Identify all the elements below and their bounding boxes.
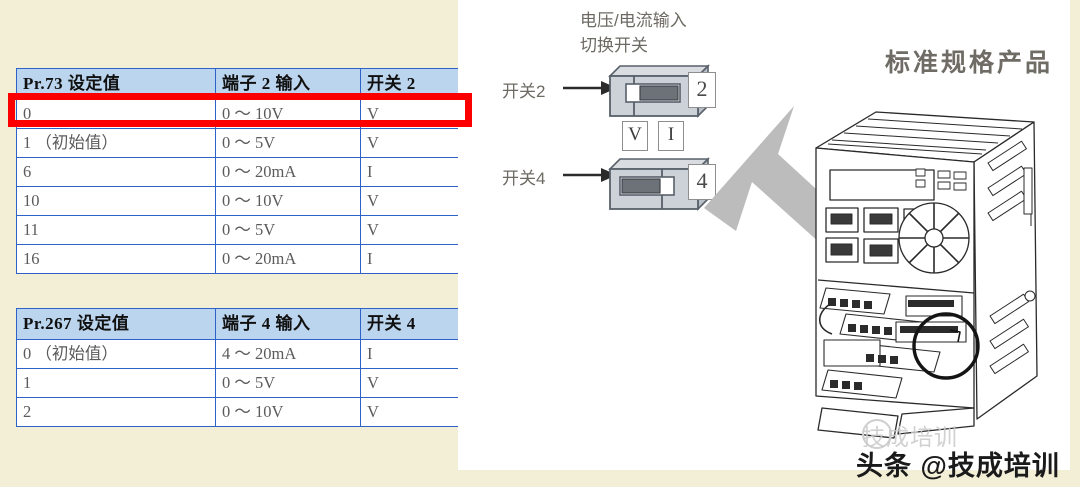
cell-input-range: 0 ～ 20mA <box>216 158 361 187</box>
column-header-terminal4-input: 端子 4 输入 <box>216 309 361 340</box>
diagram-pane: 电压/电流输入 切换开关 标准规格产品 开关2 开关4 2 V <box>458 0 1070 470</box>
cell-input-range: 0 ～ 10V <box>216 398 361 427</box>
table-row: 0 （初始值） 4 ～ 20mA I <box>17 340 482 369</box>
product-title: 标准规格产品 <box>885 43 1053 79</box>
cell-input-range: 0 ～ 10V <box>216 187 361 216</box>
cell-setting: 10 <box>17 187 216 216</box>
tables-pane: Pr.73 设定值 端子 2 输入 开关 2 0 0 ～ 10V V 1 （初始… <box>0 0 458 487</box>
cell-setting: 11 <box>17 216 216 245</box>
switch2-label: 开关2 <box>502 77 545 102</box>
cell-setting: 0 （初始值） <box>17 340 216 369</box>
table-row: 11 0 ～ 5V V <box>17 216 482 245</box>
inverter-illustration <box>798 108 1060 453</box>
cell-setting: 2 <box>17 398 216 427</box>
table-row: 6 0 ～ 20mA I <box>17 158 482 187</box>
screenshot-root: Pr.73 设定值 端子 2 输入 开关 2 0 0 ～ 10V V 1 （初始… <box>0 0 1080 487</box>
cell-setting: 16 <box>17 245 216 274</box>
cell-input-range: 0 ～ 5V <box>216 369 361 398</box>
table-row: 16 0 ～ 20mA I <box>17 245 482 274</box>
cell-setting: 6 <box>17 158 216 187</box>
column-header-pr73-setting: Pr.73 设定值 <box>17 69 216 100</box>
table-row: 10 0 ～ 10V V <box>17 187 482 216</box>
table-row: 0 0 ～ 10V V <box>17 100 482 129</box>
table-row: 2 0 ～ 10V V <box>17 398 482 427</box>
watermark-text: 头条 @技成培训 <box>856 444 1060 483</box>
table-header-row: Pr.267 设定值 端子 4 输入 开关 4 <box>17 309 482 340</box>
voltage-mode-label: V <box>622 121 648 151</box>
column-header-pr267-setting: Pr.267 设定值 <box>17 309 216 340</box>
table-row: 1 0 ～ 5V V <box>17 369 482 398</box>
switch4-label: 开关4 <box>502 164 545 189</box>
cell-input-range: 0 ～ 20mA <box>216 245 361 274</box>
cell-input-range: 0 ～ 5V <box>216 129 361 158</box>
cell-input-range: 0 ～ 5V <box>216 216 361 245</box>
cell-input-range: 4 ～ 20mA <box>216 340 361 369</box>
cell-input-range: 0 ～ 10V <box>216 100 361 129</box>
cell-setting: 1 <box>17 369 216 398</box>
current-mode-label: I <box>658 121 684 151</box>
table-row: 1 （初始值） 0 ～ 5V V <box>17 129 482 158</box>
cell-setting: 1 （初始值） <box>17 129 216 158</box>
pr267-table: Pr.267 设定值 端子 4 输入 开关 4 0 （初始值） 4 ～ 20mA… <box>16 308 482 427</box>
column-header-terminal2-input: 端子 2 输入 <box>216 69 361 100</box>
switch-section-title: 电压/电流输入 切换开关 <box>580 8 687 58</box>
pr73-table: Pr.73 设定值 端子 2 输入 开关 2 0 0 ～ 10V V 1 （初始… <box>16 68 482 274</box>
cell-setting: 0 <box>17 100 216 129</box>
table-header-row: Pr.73 设定值 端子 2 输入 开关 2 <box>17 69 482 100</box>
